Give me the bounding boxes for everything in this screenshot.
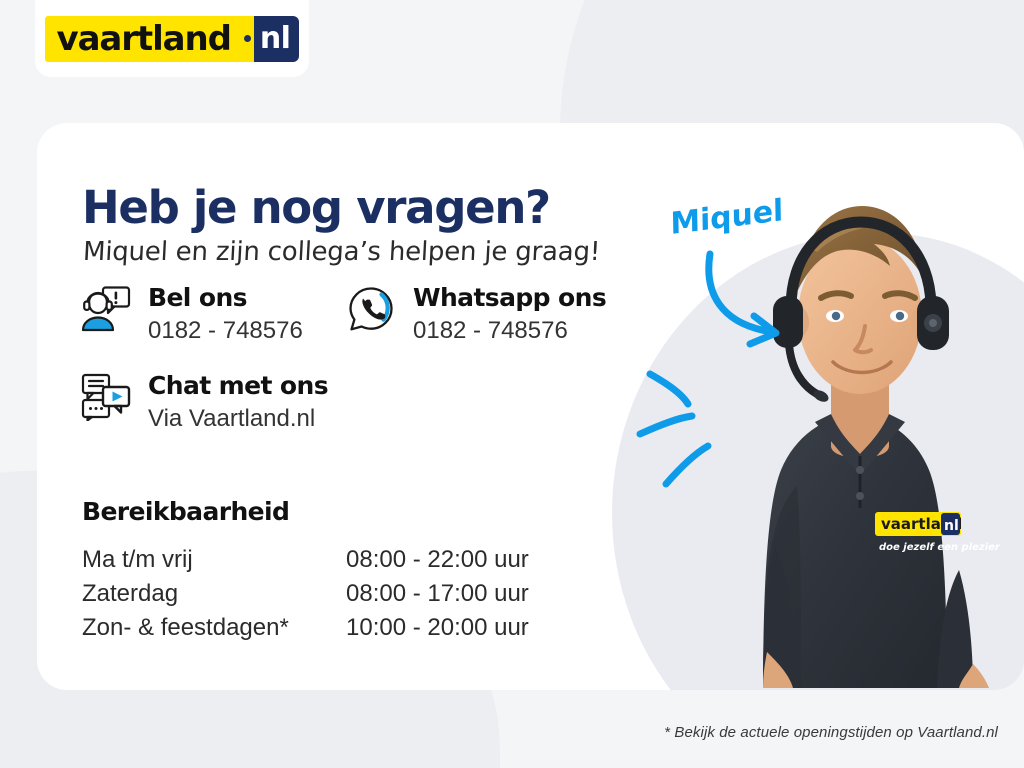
availability-table: Ma t/m vrij 08:00 - 22:00 uur Zaterdag 0… bbox=[82, 543, 576, 645]
contact-whatsapp-title: Whatsapp ons bbox=[413, 283, 606, 312]
contact-item-chat[interactable]: Chat met ons Via Vaartland.nl bbox=[80, 369, 328, 435]
contact-chat-value[interactable]: Via Vaartland.nl bbox=[148, 403, 328, 435]
availability-title: Bereikbaarheid bbox=[82, 497, 289, 526]
logo-lockup: vaartland nl bbox=[45, 16, 300, 62]
agent-photo: vaartland nl doe jezelf een plezier bbox=[745, 140, 1024, 700]
logo-wordmark: vaartland bbox=[45, 16, 241, 62]
table-row: Zon- & feestdagen* 10:00 - 20:00 uur bbox=[82, 611, 576, 645]
svg-text:doe jezelf een plezier: doe jezelf een plezier bbox=[879, 542, 1001, 553]
availability-day: Ma t/m vrij bbox=[82, 543, 346, 577]
availability-day: Zon- & feestdagen* bbox=[82, 611, 346, 645]
dot-separator-icon bbox=[241, 16, 254, 62]
page-subtitle: Miquel en zijn collega’s helpen je graag… bbox=[82, 237, 601, 267]
opening-hours-footnote: * Bekijk de actuele openingstijden op Va… bbox=[664, 724, 998, 741]
page-title: Heb je nog vragen? bbox=[82, 181, 550, 234]
whatsapp-icon bbox=[345, 283, 397, 335]
availability-hours: 08:00 - 22:00 uur bbox=[346, 543, 576, 577]
contact-call-number[interactable]: 0182 - 748576 bbox=[148, 315, 303, 347]
table-row: Zaterdag 08:00 - 17:00 uur bbox=[82, 577, 576, 611]
contact-call-title: Bel ons bbox=[148, 283, 247, 312]
contact-call-text: Bel ons 0182 - 748576 bbox=[148, 281, 303, 347]
contact-chat-title: Chat met ons bbox=[148, 371, 328, 400]
svg-text:nl: nl bbox=[944, 518, 959, 534]
headset-person-icon bbox=[80, 283, 132, 335]
contact-whatsapp-text: Whatsapp ons 0182 - 748576 bbox=[413, 281, 606, 347]
contact-whatsapp-number[interactable]: 0182 - 748576 bbox=[413, 315, 606, 347]
availability-hours: 10:00 - 20:00 uur bbox=[346, 611, 576, 645]
brand-logo[interactable]: vaartland nl bbox=[35, 0, 309, 77]
contact-item-whatsapp[interactable]: Whatsapp ons 0182 - 748576 bbox=[345, 281, 606, 347]
chat-bubbles-icon bbox=[80, 371, 132, 423]
contact-chat-text: Chat met ons Via Vaartland.nl bbox=[148, 369, 328, 435]
motion-accent-marks bbox=[636, 360, 756, 495]
contact-item-call[interactable]: Bel ons 0182 - 748576 bbox=[80, 281, 303, 347]
availability-hours: 08:00 - 17:00 uur bbox=[346, 577, 576, 611]
logo-tld: nl bbox=[254, 16, 300, 62]
table-row: Ma t/m vrij 08:00 - 22:00 uur bbox=[82, 543, 576, 577]
curved-arrow-icon bbox=[700, 248, 810, 358]
availability-day: Zaterdag bbox=[82, 577, 346, 611]
